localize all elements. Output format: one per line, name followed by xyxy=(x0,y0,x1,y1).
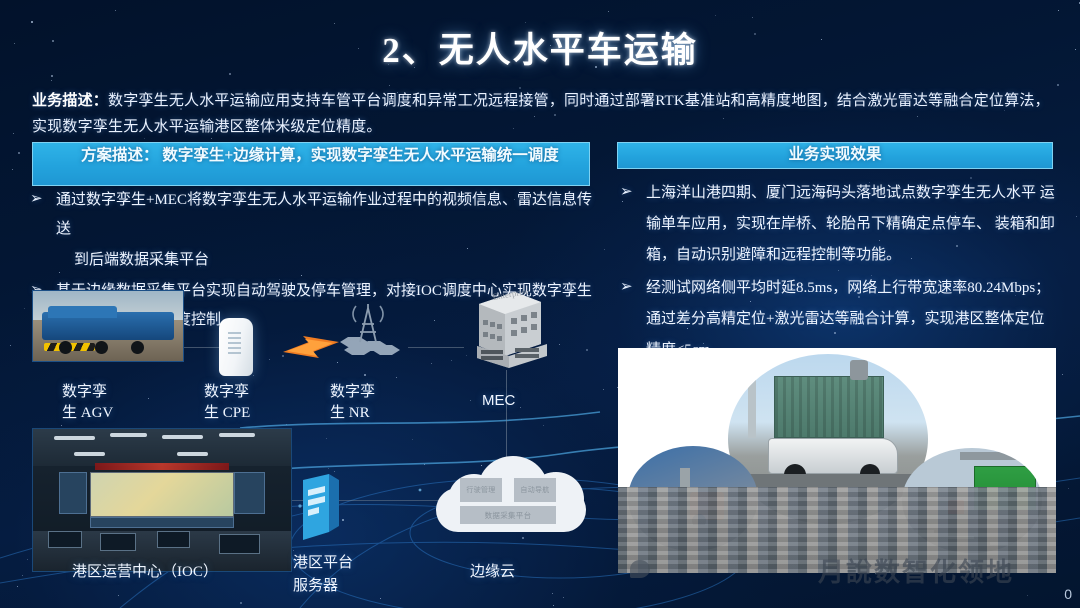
watermark-logo-icon xyxy=(630,560,650,578)
control-room-photo xyxy=(32,428,292,572)
photo-ceiling xyxy=(33,429,291,466)
business-description-label: 业务描述： xyxy=(32,93,108,109)
bullet-arrow-icon: ➢ xyxy=(30,185,43,214)
shipping-container xyxy=(774,376,884,438)
monitor xyxy=(100,533,136,551)
agv-wheel xyxy=(95,341,108,354)
list-item-text: 通过数字孪生+MEC将数字孪生无人水平运输作业过程中的视频信息、雷达信息传送 xyxy=(56,192,592,237)
ceiling-light xyxy=(74,452,105,456)
server-icon xyxy=(299,474,341,540)
video-wall-main xyxy=(90,472,234,517)
diagram-label-server: 港区平台 服务器 xyxy=(293,552,389,598)
mec-building-icon: Enterprise xyxy=(463,282,551,370)
page-number: 0 xyxy=(1064,586,1072,602)
label-line: 服务器 xyxy=(293,575,389,598)
monitor xyxy=(219,534,260,554)
cloud-box-driving-management: 行驶管理 xyxy=(460,478,502,502)
cpe-led-strip xyxy=(228,332,241,356)
video-wall-panel xyxy=(234,472,265,515)
ceiling-light xyxy=(162,435,203,439)
label-line: 生 CPE xyxy=(204,403,294,424)
agv-vehicle-photo xyxy=(32,290,184,362)
cloud-box-data-collection-platform: 数据采集平台 xyxy=(460,506,556,524)
right-panel-bullets: ➢ 上海洋山港四期、厦门远海码头落地试点数字孪生无人水平 运输单车应用，实现在岸… xyxy=(620,178,1056,368)
label-line: 数字孪 xyxy=(62,382,152,403)
connector-agv-cpe xyxy=(184,347,220,348)
agv-wheel xyxy=(59,341,72,354)
bullet-arrow-icon: ➢ xyxy=(620,177,633,208)
diagram-label-agv: 数字孪 生 AGV xyxy=(62,382,152,424)
crane-mast xyxy=(748,358,756,438)
watermark-text: 月說数智化领地 xyxy=(818,558,1014,587)
list-item-text: 经测试网络侧平均时延8.5ms，网络上行带宽速率80.24Mbps；通过差分高精… xyxy=(646,280,1050,358)
ceiling-light xyxy=(219,433,255,437)
gantry-beam xyxy=(960,452,1032,460)
list-item-text: 上海洋山港四期、厦门远海码头落地试点数字孪生无人水平 运输单车应用，实现在岸桥、… xyxy=(646,185,1055,263)
list-item: 到后端数据采集平台 xyxy=(30,246,596,275)
watermark: 月說数智化领地 xyxy=(630,552,1060,594)
led-banner xyxy=(95,463,229,470)
list-item: ➢ 上海洋山港四期、厦门远海码头落地试点数字孪生无人水平 运输单车应用，实现在岸… xyxy=(620,178,1056,271)
list-item: ➢ 通过数字孪生+MEC将数字孪生无人水平运输作业过程中的视频信息、雷达信息传送 xyxy=(30,186,596,244)
monitor xyxy=(48,531,82,548)
diagram-label-nr: 数字孪 生 NR xyxy=(330,382,420,424)
list-item-text: 到后端数据采集平台 xyxy=(74,252,209,268)
diagram-label-cloud: 边缘云 xyxy=(470,562,580,583)
video-wall-panel xyxy=(59,472,87,515)
edge-cloud-icon: 行驶管理 自动导航 数据采集平台 xyxy=(432,452,590,538)
business-description: 业务描述：数字孪生无人水平运输应用支持车管平台调度和异常工况远程接管，同时通过部… xyxy=(32,88,1052,140)
ceiling-light xyxy=(110,433,146,437)
results-photo-collage xyxy=(618,348,1056,573)
container-ribs xyxy=(775,377,883,437)
page-title: 2、无人水平车运输 xyxy=(0,22,1080,73)
right-panel-header: 业务实现效果 xyxy=(617,142,1053,169)
diagram-label-cpe: 数字孪 生 CPE xyxy=(204,382,294,424)
slide-root: 2、无人水平车运输 业务描述：数字孪生无人水平运输应用支持车管平台调度和异常工况… xyxy=(0,0,1080,608)
diagram-label-ioc: 港区运营中心（IOC） xyxy=(72,562,302,583)
label-line: 数字孪 xyxy=(330,382,420,403)
left-panel-header: 方案描述： 数字孪生+边缘计算，实现数字孪生无人水平运输统一调度 xyxy=(32,142,590,186)
business-description-body: 数字孪生无人水平运输应用支持车管平台调度和异常工况远程接管，同时通过部署RTK基… xyxy=(32,93,1050,135)
label-line: 港区平台 xyxy=(293,552,389,575)
video-wall-panel xyxy=(90,517,234,528)
nr-tower-icon xyxy=(330,298,408,364)
cloud-box-auto-navigation: 自动导航 xyxy=(514,478,556,502)
diagram-label-mec: MEC xyxy=(482,390,562,411)
bullet-arrow-icon: ➢ xyxy=(620,272,633,303)
label-line: 生 NR xyxy=(330,403,420,424)
ceiling-light xyxy=(54,436,95,440)
label-line: 生 AGV xyxy=(62,403,152,424)
label-line: 数字孪 xyxy=(204,382,294,403)
crane-spreader xyxy=(850,360,868,380)
ceiling-light xyxy=(177,452,208,456)
agv-cab xyxy=(48,306,117,317)
agv-wheel xyxy=(131,341,144,354)
connector-nr-mec xyxy=(408,347,464,348)
cpe-device-icon xyxy=(219,318,253,376)
monitor xyxy=(157,531,191,548)
